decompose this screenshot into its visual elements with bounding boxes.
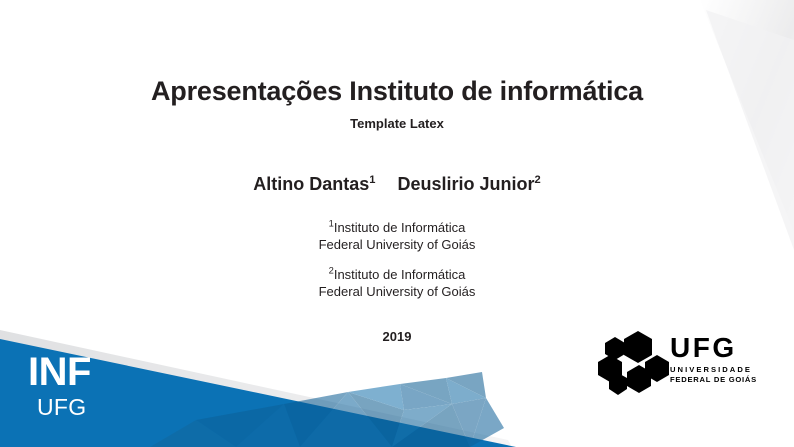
ufg-wordmark-line2: FEDERAL DE GOIÁS: [670, 375, 757, 384]
inf-ufg-banner-logo: INF UFG: [28, 352, 91, 419]
author-list: Altino Dantas1Deuslirio Junior2: [0, 174, 794, 195]
ufg-logo: UFG UNIVERSIDADE FEDERAL DE GOIÁS: [598, 329, 758, 397]
affiliation-1-university: Federal University of Goiás: [0, 237, 794, 254]
presentation-title-slide: Apresentações Instituto de informática T…: [0, 0, 794, 447]
author-2-affiliation-marker: 2: [535, 174, 541, 186]
affiliation-1-institute-line: 1Instituto de Informática: [0, 220, 794, 237]
author-2-name: Deuslirio Junior: [397, 174, 534, 194]
ufg-wordmark: UFG UNIVERSIDADE FEDERAL DE GOIÁS: [670, 335, 757, 384]
author-1-name: Altino Dantas: [253, 174, 369, 194]
author-1-affiliation-marker: 1: [369, 174, 375, 186]
page-title: Apresentações Instituto de informática: [0, 77, 794, 107]
author-2: Deuslirio Junior2: [397, 174, 540, 195]
affiliation-2: 2Instituto de Informática Federal Univer…: [0, 267, 794, 300]
affiliation-2-institute-line: 2Instituto de Informática: [0, 267, 794, 284]
affiliation-1: 1Instituto de Informática Federal Univer…: [0, 220, 794, 253]
ufg-wordmark-initials: UFG: [670, 335, 757, 362]
banner-inf-label: INF: [28, 352, 91, 392]
banner-polygon-facets: [150, 372, 504, 447]
banner-ufg-label: UFG: [37, 396, 91, 419]
ufg-hexagon-cluster-icon: [598, 329, 670, 397]
affiliation-2-university: Federal University of Goiás: [0, 284, 794, 301]
author-1: Altino Dantas1: [253, 174, 375, 195]
ufg-wordmark-line1: UNIVERSIDADE: [670, 365, 757, 374]
affiliation-1-institute: Instituto de Informática: [334, 220, 466, 235]
affiliation-2-institute: Instituto de Informática: [334, 267, 466, 282]
page-subtitle: Template Latex: [0, 116, 794, 131]
